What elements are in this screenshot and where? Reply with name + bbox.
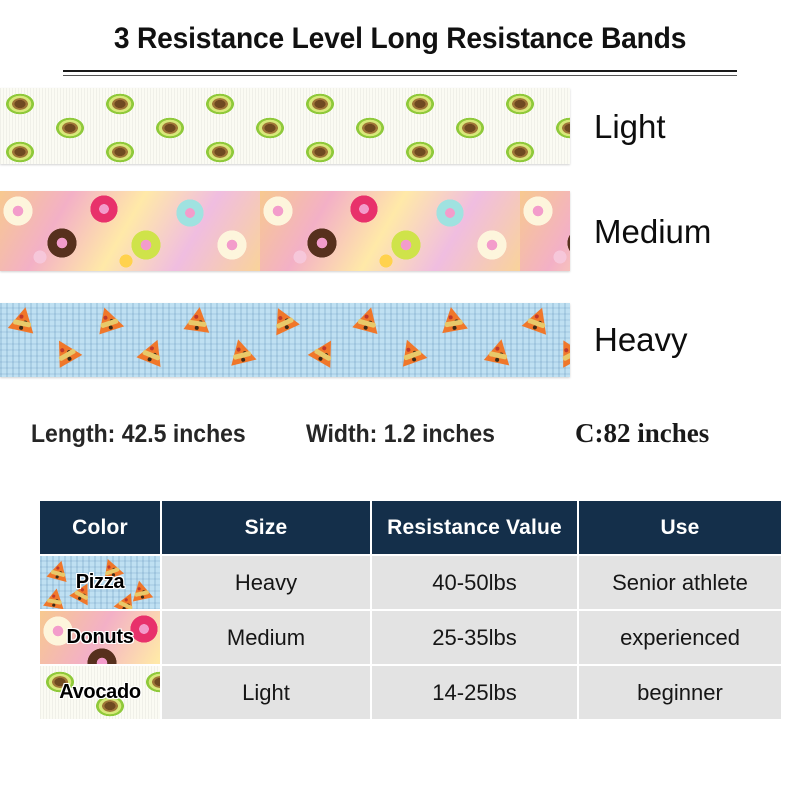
cell-size-pizza: Heavy	[162, 556, 370, 609]
table-row: Avocado Light 14-25lbs beginner	[40, 666, 781, 719]
specs-row: Length: 42.5 inches Width: 1.2 inches C:…	[0, 418, 800, 456]
swatch-cell-pizza: Pizza	[40, 556, 160, 609]
cell-resistance-pizza: 40-50lbs	[372, 556, 577, 609]
band-row-heavy: Heavy	[0, 303, 800, 377]
swatch-label-pizza: Pizza	[40, 556, 160, 609]
pizza-slice-icon	[136, 335, 169, 367]
band-label-heavy: Heavy	[594, 321, 688, 359]
cell-use-pizza: Senior athlete	[579, 556, 781, 609]
pizza-slice-icon	[8, 305, 38, 334]
pizza-slice-icon	[92, 304, 124, 335]
pizza-slice-icon	[183, 305, 212, 332]
pizza-slice-icon	[395, 335, 428, 366]
band-image-avocado	[0, 88, 570, 164]
cell-resistance-donuts: 25-35lbs	[372, 611, 577, 664]
spec-circumference: C:82 inches	[575, 418, 709, 449]
title-divider	[63, 70, 737, 76]
swatch-label-avocado: Avocado	[40, 666, 160, 719]
cell-use-avocado: beginner	[579, 666, 781, 719]
table-header-color: Color	[40, 501, 160, 554]
pizza-slice-icon	[522, 303, 555, 334]
swatch-cell-donuts: Donuts	[40, 611, 160, 664]
band-label-light: Light	[594, 108, 666, 146]
table-header-row: Color Size Resistance Value Use	[40, 501, 781, 554]
pizza-slice-icon	[308, 334, 343, 368]
pizza-slice-icon	[48, 334, 83, 368]
pizza-slice-icon	[266, 303, 300, 335]
cell-resistance-avocado: 14-25lbs	[372, 666, 577, 719]
band-image-pizza	[0, 303, 570, 377]
pizza-slice-icon	[552, 334, 570, 367]
swatch-cell-avocado: Avocado	[40, 666, 160, 719]
cell-size-avocado: Light	[162, 666, 370, 719]
band-label-medium: Medium	[594, 213, 711, 251]
pizza-slice-icon	[438, 305, 468, 333]
page-title: 3 Resistance Level Long Resistance Bands	[24, 22, 776, 56]
table-row: Pizza Heavy 40-50lbs Senior athlete	[40, 556, 781, 609]
table-row: Donuts Medium 25-35lbs experienced	[40, 611, 781, 664]
spec-length: Length: 42.5 inches	[31, 420, 246, 449]
table-header-resistance-value: Resistance Value	[372, 501, 577, 554]
cell-size-donuts: Medium	[162, 611, 370, 664]
cell-use-donuts: experienced	[579, 611, 781, 664]
swatch-label-donuts: Donuts	[40, 611, 160, 664]
pizza-slice-icon	[225, 336, 256, 366]
table-header-use: Use	[579, 501, 781, 554]
pizza-slice-icon	[352, 304, 383, 334]
table-header-size: Size	[162, 501, 370, 554]
title-block: 3 Resistance Level Long Resistance Bands	[0, 22, 800, 56]
band-image-donuts	[0, 191, 570, 271]
spec-width: Width: 1.2 inches	[306, 420, 495, 449]
pizza-slice-icon	[484, 337, 514, 366]
specification-table: Color Size Resistance Value Use Pizza He…	[38, 499, 783, 721]
